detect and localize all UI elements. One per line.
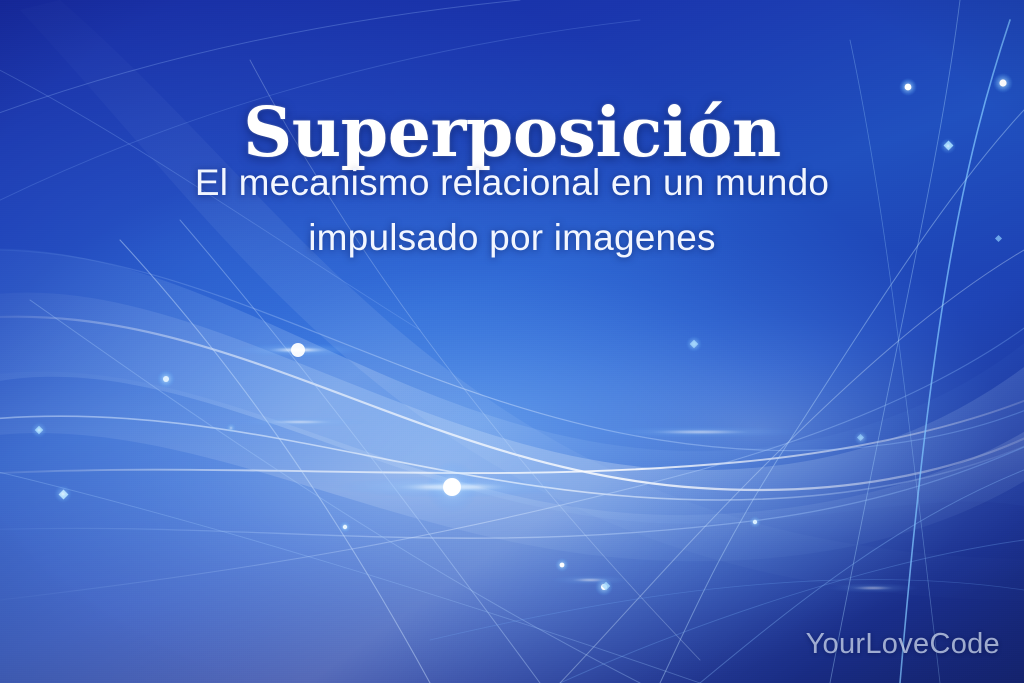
slide-subtitle: El mecanismo relacional en un mundo impu… xyxy=(162,156,862,266)
slide-subtitle-line-2: impulsado por imagenes xyxy=(162,211,862,266)
watermark-label: YourLoveCode xyxy=(806,628,1000,661)
slide-subtitle-line-1: El mecanismo relacional en un mundo xyxy=(162,156,862,211)
light-flare-group xyxy=(230,343,919,593)
presentation-slide: Superposición El mecanismo relacional en… xyxy=(0,0,1024,683)
